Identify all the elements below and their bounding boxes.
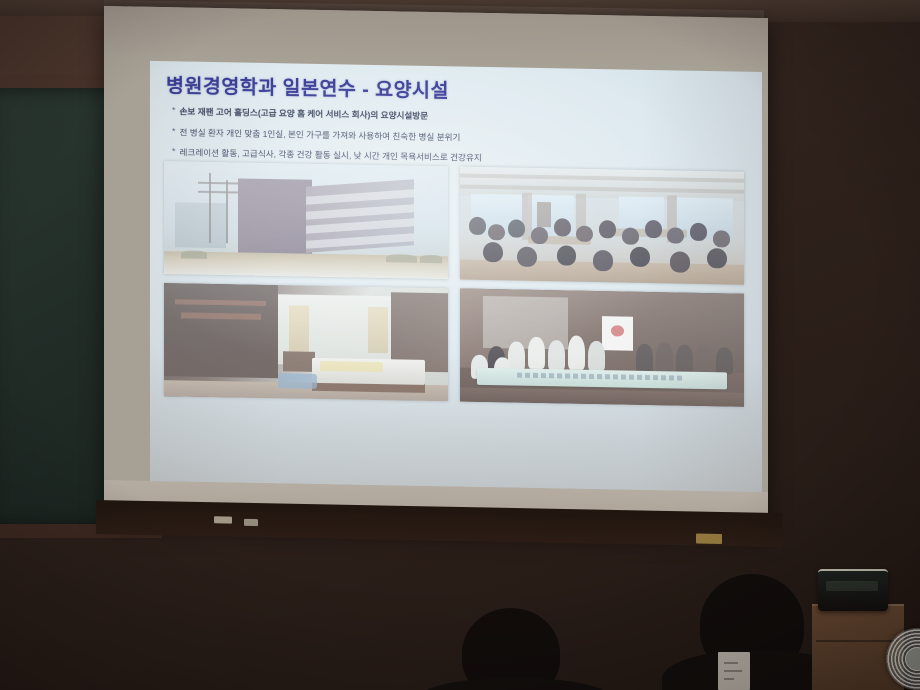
bullet-item-2: * 전 병실 환자 개인 맞춤 1인실, 본인 가구를 가져와 사용하여 친숙한… [172,126,732,148]
bullet-marker: * [172,104,176,116]
flag-disc [611,325,623,337]
projected-slide: 병원경영학과 일본연수 - 요양시설 * 손보 재팬 고어 홀딩스(고급 요양 … [150,61,762,492]
lecture-hall-scene: 병원경영학과 일본연수 - 요양시설 * 손보 재팬 고어 홀딩스(고급 요양 … [0,0,920,690]
ceiling [460,167,744,202]
cabinet-drawer-line [816,640,900,642]
chair [278,373,318,388]
photo-group [460,289,744,407]
utility-pole [226,180,228,243]
photo-seminar [460,167,744,285]
bullet-text: 손보 재팬 고어 홀딩스(고급 요양 홈 케어 서비스 회사)의 요양시설방문 [180,105,429,122]
shelf [175,299,266,306]
bedside-table [283,351,314,372]
floor [460,259,744,285]
podium [537,202,551,227]
blanket [320,361,382,372]
slide-title: 병원경영학과 일본연수 - 요양시설 [166,69,449,103]
utility-pole [209,173,211,243]
slide-photo-grid [164,161,744,407]
bed-frame [312,376,426,393]
building-facade [238,178,312,254]
back-wall [460,289,744,373]
bullet-marker: * [172,125,176,137]
bullet-text: 전 병실 환자 개인 맞춤 1인실, 본인 가구를 가져와 사용하여 친숙한 병… [180,126,461,143]
floor [460,388,744,407]
japan-flag [602,316,633,350]
photo-building [164,161,448,279]
group-banner [477,368,727,390]
right-wall [391,292,448,372]
side-wall [164,283,278,378]
back-wall [272,294,397,366]
wall-screen [483,296,568,350]
ground [164,252,448,280]
photo-patient-room [164,283,448,401]
projection-screen: 병원경영학과 일본연수 - 요양시설 * 손보 재팬 고어 홀딩스(고급 요양 … [104,6,768,534]
bullet-item-1: * 손보 재팬 고어 홀딩스(고급 요양 홈 케어 서비스 회사)의 요양시설방… [172,105,732,127]
floor [164,380,448,401]
bed [312,358,426,385]
adjacent-building [175,202,226,248]
building-wing [306,179,414,252]
monitor-screen-glow [826,581,878,591]
bullet-marker: * [172,145,176,157]
banner-text [517,373,682,381]
